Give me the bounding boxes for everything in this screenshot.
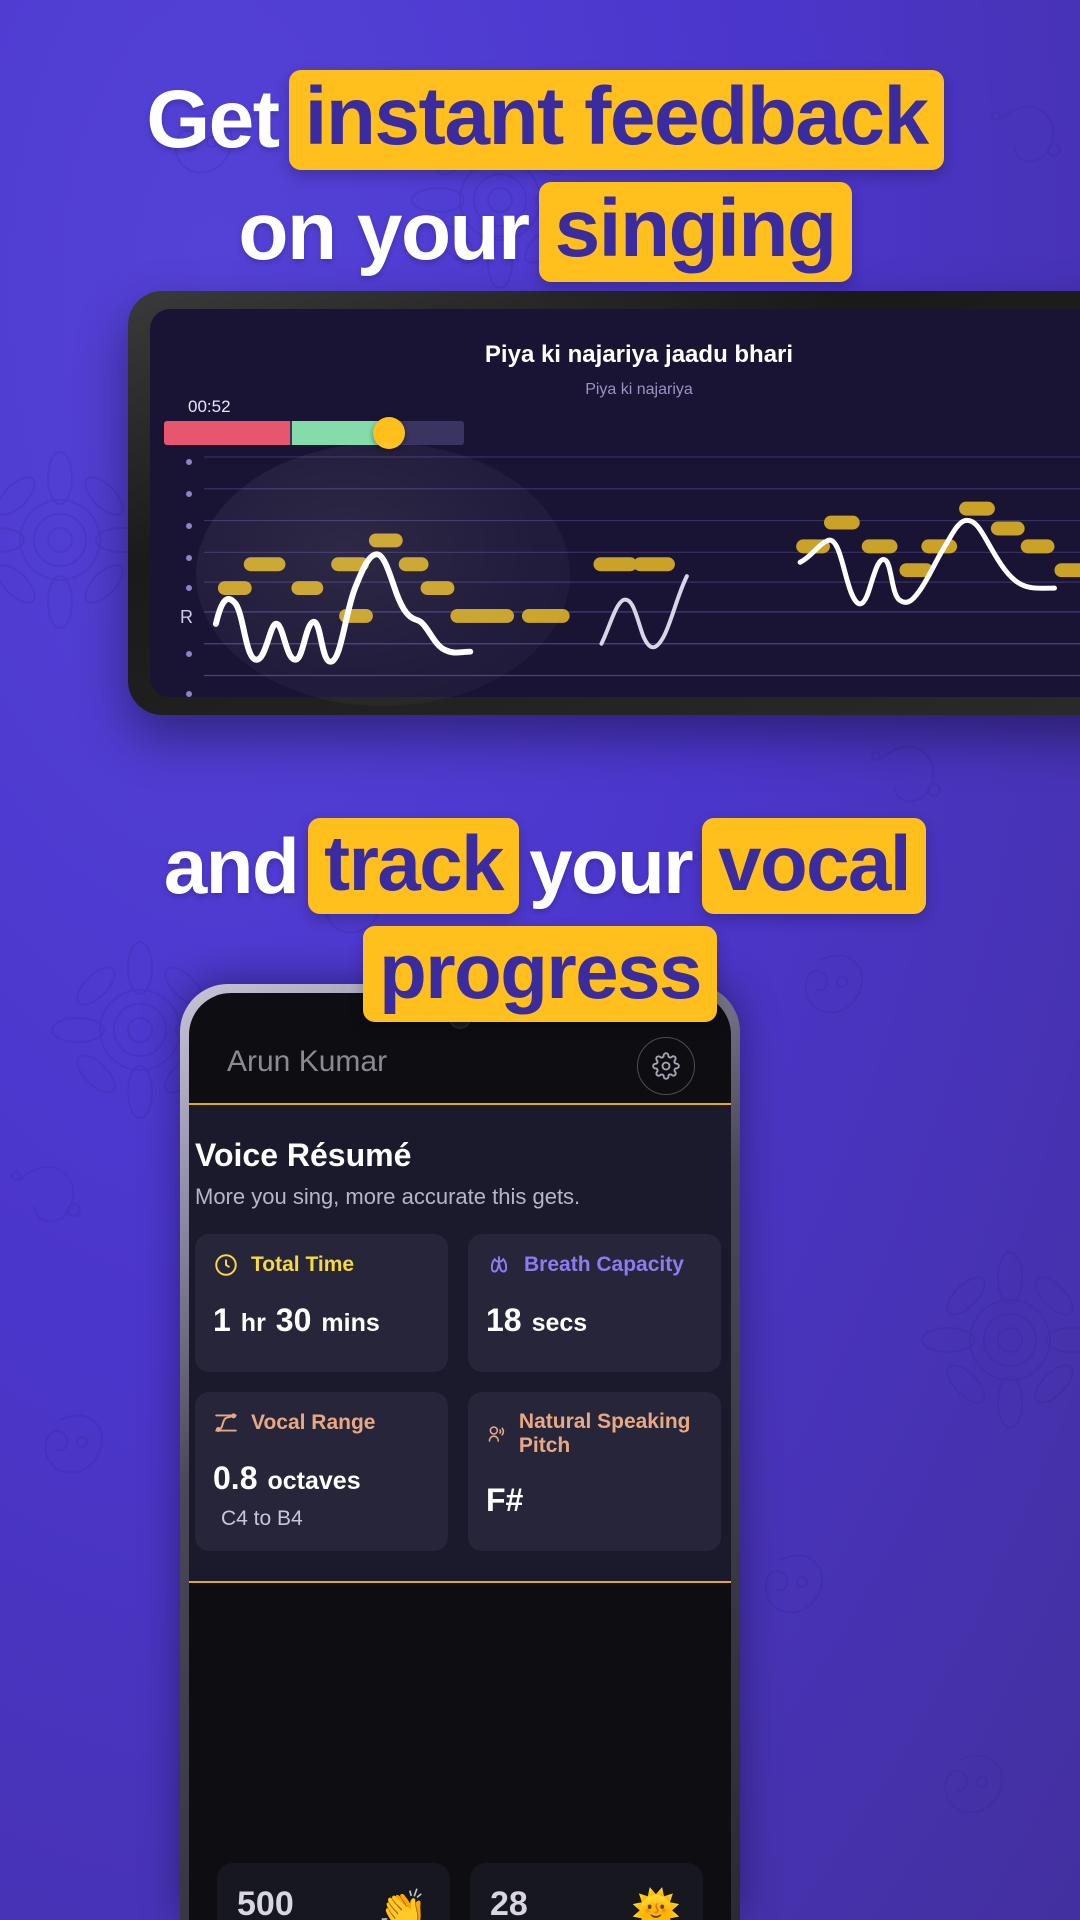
song-subtitle: Piya ki najariya	[150, 381, 1080, 399]
clock-icon	[213, 1252, 239, 1278]
pitch-note-bar	[593, 557, 637, 571]
headline-bottom-line-1: and track your vocal	[0, 818, 1080, 914]
pitch-note-bar	[633, 557, 675, 571]
pitch-note-bar	[291, 581, 323, 595]
headline-word: on your	[228, 191, 538, 273]
settings-button[interactable]	[637, 1037, 695, 1095]
stat-number: 0.8	[213, 1460, 257, 1497]
stat-card-vocal-range[interactable]: Vocal Range 0.8 octaves C4 to B4	[195, 1392, 448, 1551]
stat-unit: octaves	[267, 1467, 360, 1496]
pitch-note-bar	[1054, 563, 1080, 577]
gear-icon	[652, 1052, 680, 1080]
tile-joy-days[interactable]: 28 Joy days 🌞	[470, 1863, 703, 1920]
pitch-note-bar	[1021, 539, 1055, 553]
voice-resume-title: Voice Résumé	[195, 1137, 721, 1174]
achievement-tiles: 500 Lifetime claps 👏 28 Joy days 🌞	[217, 1863, 703, 1920]
stat-unit: hr	[241, 1309, 266, 1338]
headline-top-line-2: on your singing	[0, 182, 1080, 282]
pitch-note-bar	[959, 502, 995, 516]
sun-face-icon: 🌞	[631, 1887, 681, 1920]
pitch-chart	[204, 449, 1080, 697]
pitch-note-bar	[399, 557, 429, 571]
stat-header: Natural Speaking Pitch	[486, 1410, 703, 1458]
stat-label: Vocal Range	[251, 1411, 375, 1435]
stat-unit-2: mins	[321, 1309, 379, 1338]
axis-label-R: R	[180, 607, 193, 628]
headline-word-highlighted: singing	[539, 182, 852, 282]
axis-dot	[186, 691, 192, 697]
stat-header: Breath Capacity	[486, 1252, 703, 1278]
axis-dot	[186, 651, 192, 657]
tile-lifetime-claps[interactable]: 500 Lifetime claps 👏	[217, 1863, 450, 1920]
headline-word-highlighted: track	[308, 818, 519, 914]
headline-word-highlighted: instant feedback	[289, 70, 944, 170]
stat-label: Total Time	[251, 1253, 354, 1277]
headline-top-line-1: Get instant feedback	[0, 70, 1080, 170]
pitch-note-bar	[244, 557, 286, 571]
lungs-icon	[486, 1252, 512, 1278]
stat-card-breath-capacity[interactable]: Breath Capacity 18 secs	[468, 1234, 721, 1372]
axis-dot	[186, 585, 192, 591]
pitch-axis: R	[178, 455, 202, 697]
axis-dot	[186, 555, 192, 561]
stat-number-2: 30	[276, 1302, 312, 1339]
headline-word: your	[519, 827, 702, 905]
pitch-note-bar	[450, 609, 514, 623]
stat-number: 1	[213, 1302, 231, 1339]
phone-mockup-pitch-screen: Piya ki najariya jaadu bhari Piya ki naj…	[128, 291, 1080, 715]
stat-card-natural-speaking-pitch[interactable]: Natural Speaking Pitch F#	[468, 1392, 721, 1551]
axis-dot	[186, 459, 192, 465]
clapping-hands-icon: 👏	[378, 1887, 428, 1920]
headline-word-highlighted: vocal	[702, 818, 926, 914]
stat-label: Breath Capacity	[524, 1253, 684, 1277]
voice-resume-card: Voice Résumé More you sing, more accurat…	[189, 1103, 731, 1583]
stat-number: F#	[486, 1482, 523, 1519]
pitch-note-bar	[991, 522, 1025, 536]
profile-username: Arun Kumar	[227, 1045, 387, 1079]
pitch-note-bar	[522, 609, 570, 623]
song-title: Piya ki najariya jaadu bhari	[150, 341, 1080, 369]
elapsed-time-label: 00:52	[188, 397, 231, 417]
speaking-person-icon	[486, 1421, 507, 1447]
stat-value: 1 hr 30 mins	[213, 1302, 430, 1339]
stat-card-total-time[interactable]: Total Time 1 hr 30 mins	[195, 1234, 448, 1372]
pitch-note-bar	[824, 516, 860, 530]
phone-mockup-profile-screen: Arun Kumar Voice Résumé More you sing, m…	[180, 984, 740, 1920]
headline-word: and	[154, 827, 308, 905]
pitch-app-screen: Piya ki najariya jaadu bhari Piya ki naj…	[150, 309, 1080, 697]
stat-header: Total Time	[213, 1252, 430, 1278]
stat-extra: C4 to B4	[221, 1507, 303, 1531]
stat-label: Natural Speaking Pitch	[519, 1410, 703, 1458]
pitch-note-bar	[218, 581, 252, 595]
pitch-note-bar	[421, 581, 455, 595]
headline-bottom: and track your vocal progress	[0, 818, 1080, 1022]
stat-value: 18 secs	[486, 1302, 703, 1339]
axis-dot	[186, 491, 192, 497]
vocal-range-icon	[213, 1410, 239, 1436]
seek-segment-missed	[164, 421, 290, 445]
seek-thumb[interactable]	[373, 417, 405, 449]
stat-value: 0.8 octaves C4 to B4	[213, 1460, 430, 1531]
pitch-note-bar	[369, 533, 403, 547]
profile-app-screen: Arun Kumar Voice Résumé More you sing, m…	[189, 993, 731, 1920]
headline-top: Get instant feedback on your singing	[0, 70, 1080, 282]
voice-stat-grid: Total Time 1 hr 30 mins	[195, 1234, 721, 1551]
stat-header: Vocal Range	[213, 1410, 430, 1436]
stat-unit: secs	[532, 1309, 588, 1338]
headline-word-highlighted: progress	[363, 926, 717, 1022]
headline-bottom-line-2: progress	[0, 926, 1080, 1022]
voice-resume-subtitle: More you sing, more accurate this gets.	[195, 1184, 721, 1210]
headline-word: Get	[136, 79, 288, 161]
pitch-note-bar	[862, 539, 898, 553]
stat-number: 18	[486, 1302, 522, 1339]
axis-dot	[186, 523, 192, 529]
seek-bar[interactable]	[164, 421, 464, 445]
stat-value: F#	[486, 1482, 703, 1519]
